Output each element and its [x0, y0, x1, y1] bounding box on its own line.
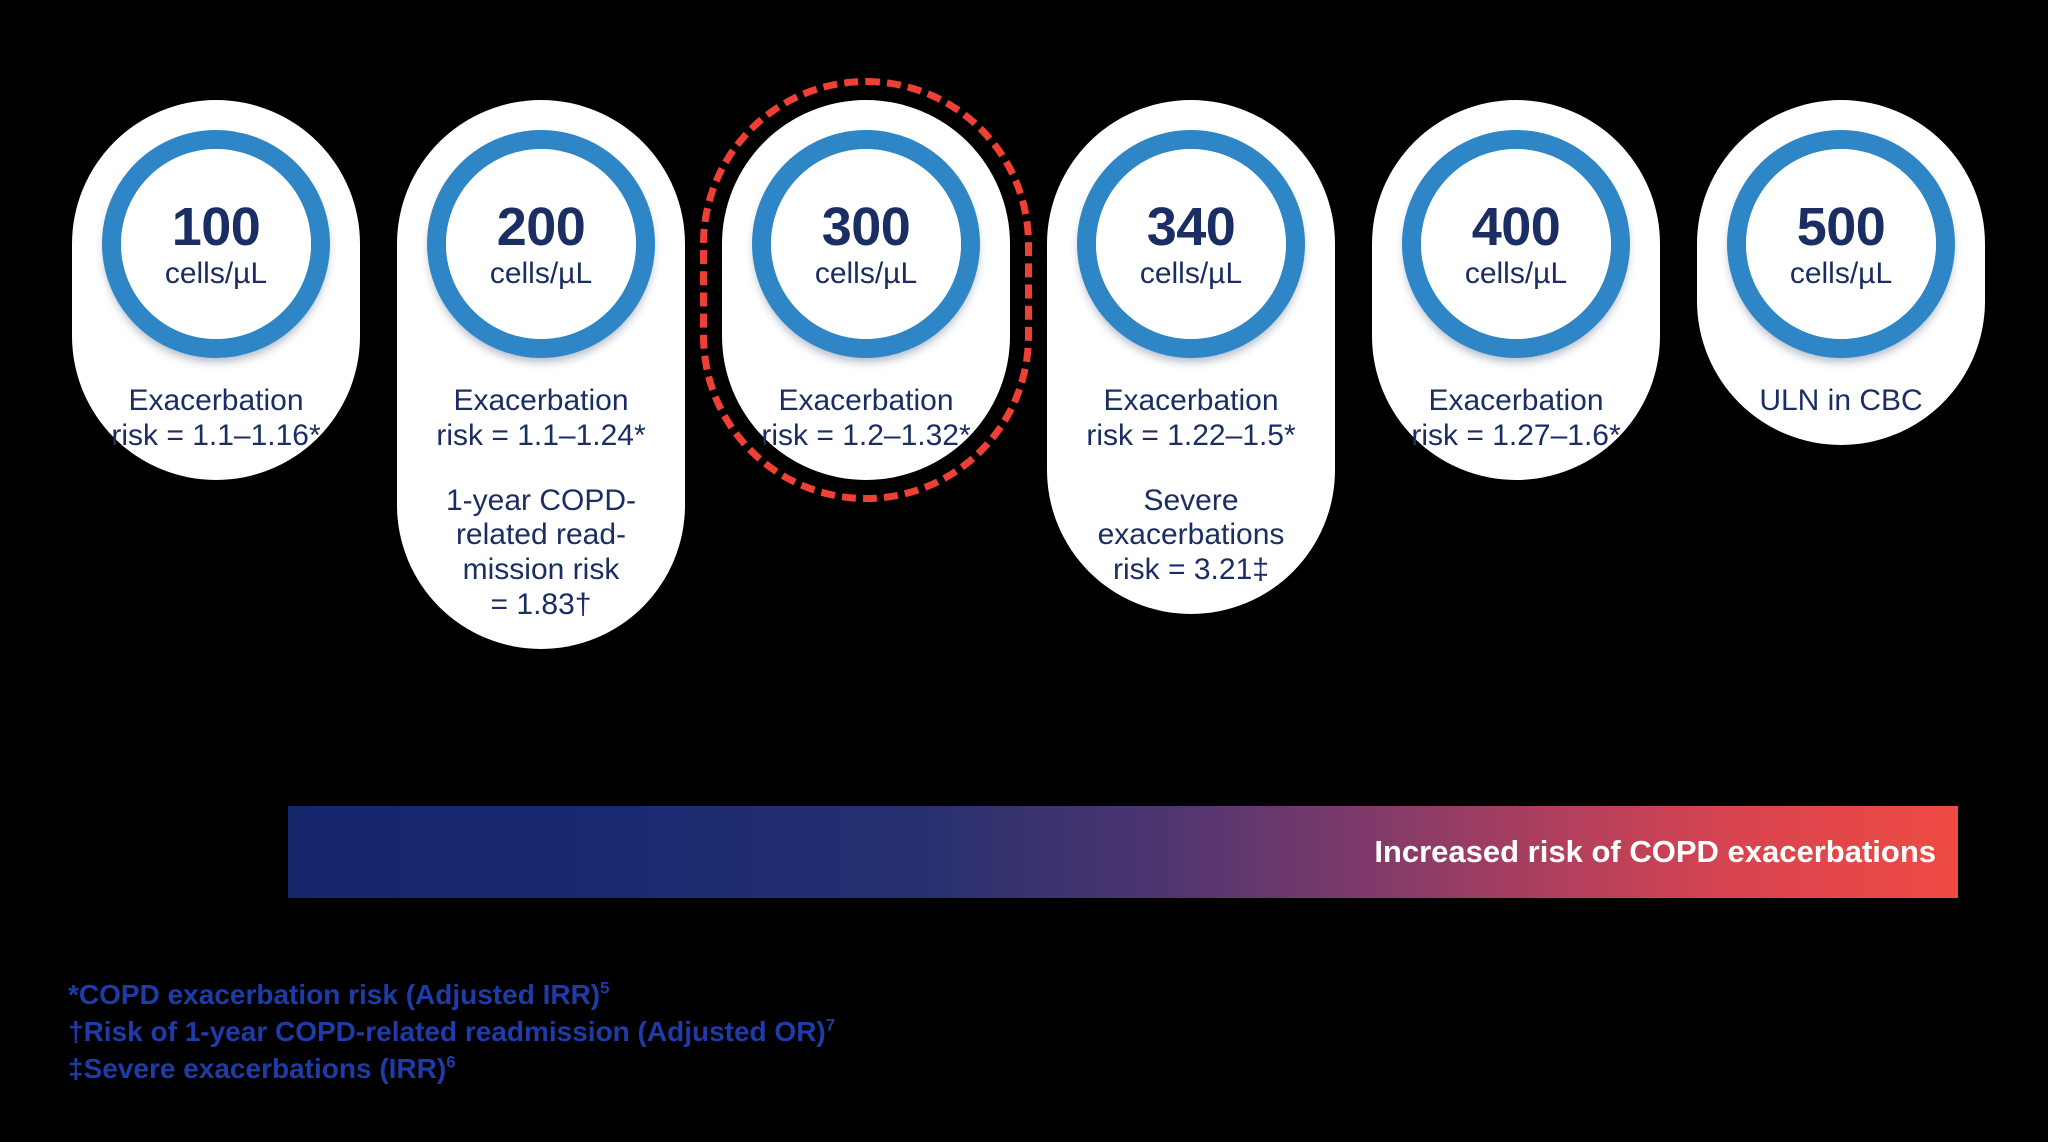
ring-inner: 400cells/µL: [1421, 149, 1611, 339]
pill-text-block: Exacerbationrisk = 1.1–1.24*: [415, 384, 667, 454]
threshold-pill-400: 400cells/µLExacerbationrisk = 1.27–1.6*: [1372, 100, 1660, 480]
footnote-line: *COPD exacerbation risk (Adjusted IRR)5: [68, 976, 835, 1013]
threshold-value: 100: [172, 200, 261, 254]
pill-text-line: related read-: [415, 518, 667, 553]
footnote-line: †Risk of 1-year COPD-related readmission…: [68, 1013, 835, 1050]
pill-text-line: risk = 1.27–1.6*: [1390, 419, 1642, 454]
threshold-value: 500: [1797, 200, 1886, 254]
threshold-pill-500: 500cells/µLULN in CBC: [1697, 100, 1985, 445]
pill-card: 500cells/µLULN in CBC: [1697, 100, 1985, 445]
pill-text-line: ULN in CBC: [1715, 384, 1967, 419]
ring-inner: 200cells/µL: [446, 149, 636, 339]
pill-text-line: mission risk: [415, 553, 667, 588]
risk-gradient-bar: Increased risk of COPD exacerbations: [288, 806, 1958, 898]
threshold-value: 400: [1472, 200, 1561, 254]
pill-body-text: Exacerbationrisk = 1.1–1.24*1-year COPD-…: [415, 384, 667, 623]
pill-body-text: Exacerbationrisk = 1.22–1.5*Severeexacer…: [1065, 384, 1317, 588]
pill-text-line: risk = 1.2–1.32*: [740, 419, 992, 454]
threshold-value: 340: [1147, 200, 1236, 254]
eosinophil-count-ring: 200cells/µL: [427, 130, 655, 358]
pill-text-line: Exacerbation: [1390, 384, 1642, 419]
pill-text-line: = 1.83†: [415, 588, 667, 623]
threshold-pill-100: 100cells/µLExacerbationrisk = 1.1–1.16*: [72, 100, 360, 480]
pill-text-line: Severe: [1065, 484, 1317, 519]
pill-text-line: risk = 1.1–1.24*: [415, 419, 667, 454]
footnote-text: Severe exacerbations (IRR): [84, 1053, 447, 1084]
pill-body-text: Exacerbationrisk = 1.27–1.6*: [1390, 384, 1642, 454]
pill-body-text: Exacerbationrisk = 1.1–1.16*: [90, 384, 342, 454]
pill-text-line: Exacerbation: [415, 384, 667, 419]
footnote-list: *COPD exacerbation risk (Adjusted IRR)5†…: [68, 976, 835, 1088]
pill-body-text: ULN in CBC: [1715, 384, 1967, 419]
threshold-units: cells/µL: [490, 259, 592, 289]
eosinophil-count-ring: 300cells/µL: [752, 130, 980, 358]
footnote-line: ‡Severe exacerbations (IRR)6: [68, 1050, 835, 1087]
threshold-units: cells/µL: [1140, 259, 1242, 289]
ring-inner: 300cells/µL: [771, 149, 961, 339]
threshold-units: cells/µL: [1790, 259, 1892, 289]
ring-inner: 500cells/µL: [1746, 149, 1936, 339]
threshold-pill-300: 300cells/µLExacerbationrisk = 1.2–1.32*: [722, 100, 1010, 480]
pill-text-block: Exacerbationrisk = 1.2–1.32*: [740, 384, 992, 454]
ring-inner: 340cells/µL: [1096, 149, 1286, 339]
footnote-text: Risk of 1-year COPD-related readmission …: [84, 1016, 826, 1047]
threshold-value: 300: [822, 200, 911, 254]
gradient-bar-label: Increased risk of COPD exacerbations: [1374, 834, 1958, 870]
pill-body-text: Exacerbationrisk = 1.2–1.32*: [740, 384, 992, 454]
pill-card: 200cells/µLExacerbationrisk = 1.1–1.24*1…: [397, 100, 685, 649]
pill-text-line: risk = 3.21‡: [1065, 553, 1317, 588]
pill-card: 400cells/µLExacerbationrisk = 1.27–1.6*: [1372, 100, 1660, 480]
ring-inner: 100cells/µL: [121, 149, 311, 339]
pill-text-block: 1-year COPD-related read-mission risk= 1…: [415, 484, 667, 623]
footnote-text: COPD exacerbation risk (Adjusted IRR): [79, 979, 600, 1010]
pill-text-line: Exacerbation: [740, 384, 992, 419]
footnote-reference: 7: [826, 1016, 835, 1035]
pill-text-block: Exacerbationrisk = 1.22–1.5*: [1065, 384, 1317, 454]
pill-card: 340cells/µLExacerbationrisk = 1.22–1.5*S…: [1047, 100, 1335, 614]
footnote-marker: *: [68, 979, 79, 1010]
threshold-pill-340: 340cells/µLExacerbationrisk = 1.22–1.5*S…: [1047, 100, 1335, 614]
pill-text-block: Severeexacerbationsrisk = 3.21‡: [1065, 484, 1317, 588]
footnote-marker: †: [68, 1016, 84, 1047]
eosinophil-count-ring: 400cells/µL: [1402, 130, 1630, 358]
threshold-pill-row: 100cells/µLExacerbationrisk = 1.1–1.16*2…: [72, 100, 1982, 730]
threshold-units: cells/µL: [165, 259, 267, 289]
pill-text-line: Exacerbation: [1065, 384, 1317, 419]
threshold-value: 200: [497, 200, 586, 254]
threshold-pill-200: 200cells/µLExacerbationrisk = 1.1–1.24*1…: [397, 100, 685, 649]
pill-card: 100cells/µLExacerbationrisk = 1.1–1.16*: [72, 100, 360, 480]
threshold-units: cells/µL: [1465, 259, 1567, 289]
pill-text-line: risk = 1.22–1.5*: [1065, 419, 1317, 454]
eosinophil-count-ring: 340cells/µL: [1077, 130, 1305, 358]
pill-text-block: Exacerbationrisk = 1.1–1.16*: [90, 384, 342, 454]
threshold-units: cells/µL: [815, 259, 917, 289]
pill-text-block: ULN in CBC: [1715, 384, 1967, 419]
eosinophil-count-ring: 100cells/µL: [102, 130, 330, 358]
pill-text-line: risk = 1.1–1.16*: [90, 419, 342, 454]
pill-text-line: 1-year COPD-: [415, 484, 667, 519]
footnote-reference: 6: [446, 1053, 455, 1072]
footnote-marker: ‡: [68, 1053, 84, 1084]
pill-text-block: Exacerbationrisk = 1.27–1.6*: [1390, 384, 1642, 454]
pill-card: 300cells/µLExacerbationrisk = 1.2–1.32*: [722, 100, 1010, 480]
pill-text-line: Exacerbation: [90, 384, 342, 419]
eosinophil-count-ring: 500cells/µL: [1727, 130, 1955, 358]
pill-text-line: exacerbations: [1065, 518, 1317, 553]
footnote-reference: 5: [600, 979, 609, 998]
